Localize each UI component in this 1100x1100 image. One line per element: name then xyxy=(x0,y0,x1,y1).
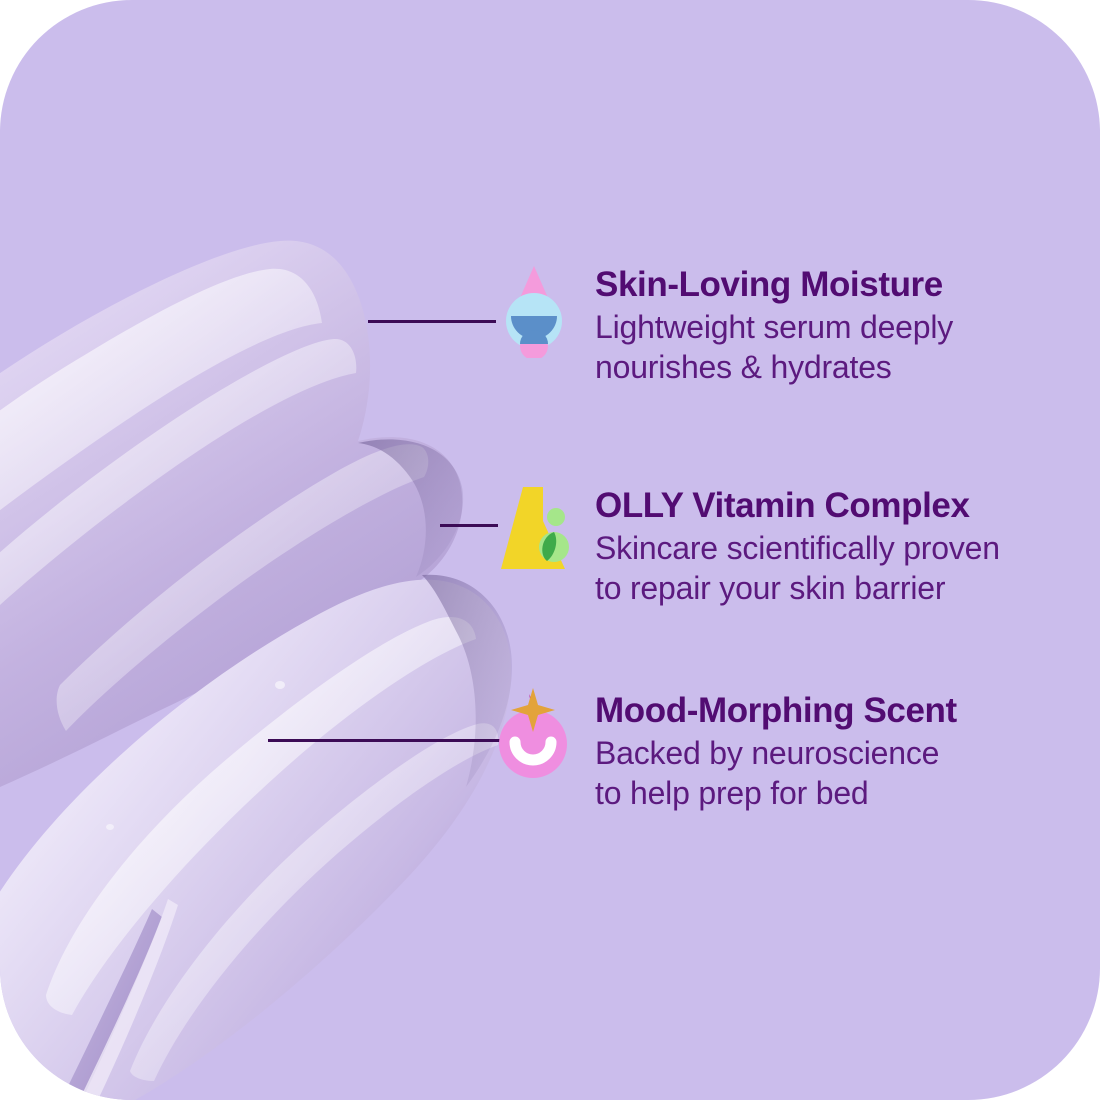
feature-text-1: Skin-Loving Moisture Lightweight serum d… xyxy=(595,262,953,387)
leader-line-2 xyxy=(440,524,498,527)
product-infographic-card: Skin-Loving Moisture Lightweight serum d… xyxy=(0,0,1100,1100)
droplet-icon xyxy=(497,262,571,358)
feature-description-2: Skincare scientifically proven to repair… xyxy=(595,529,1000,608)
feature-mood-morphing-scent: Mood-Morphing Scent Backed by neuroscien… xyxy=(497,688,957,813)
leader-line-1 xyxy=(368,320,496,323)
feature-title-2: OLLY Vitamin Complex xyxy=(595,487,1000,524)
lavender-cream-swatch-image xyxy=(0,215,570,1100)
feature-title-1: Skin-Loving Moisture xyxy=(595,266,953,303)
feature-olly-vitamin-complex: OLLY Vitamin Complex Skincare scientific… xyxy=(497,483,1000,608)
feature-description-3: Backed by neuroscience to help prep for … xyxy=(595,734,957,813)
feature-text-2: OLLY Vitamin Complex Skincare scientific… xyxy=(595,483,1000,608)
feature-description-1: Lightweight serum deeply nourishes & hyd… xyxy=(595,308,953,387)
feature-title-3: Mood-Morphing Scent xyxy=(595,692,957,729)
leader-line-3 xyxy=(268,739,500,742)
feature-skin-loving-moisture: Skin-Loving Moisture Lightweight serum d… xyxy=(497,262,953,387)
smiley-sparkle-icon xyxy=(497,688,571,784)
feature-text-3: Mood-Morphing Scent Backed by neuroscien… xyxy=(595,688,957,813)
flask-icon xyxy=(497,483,571,579)
